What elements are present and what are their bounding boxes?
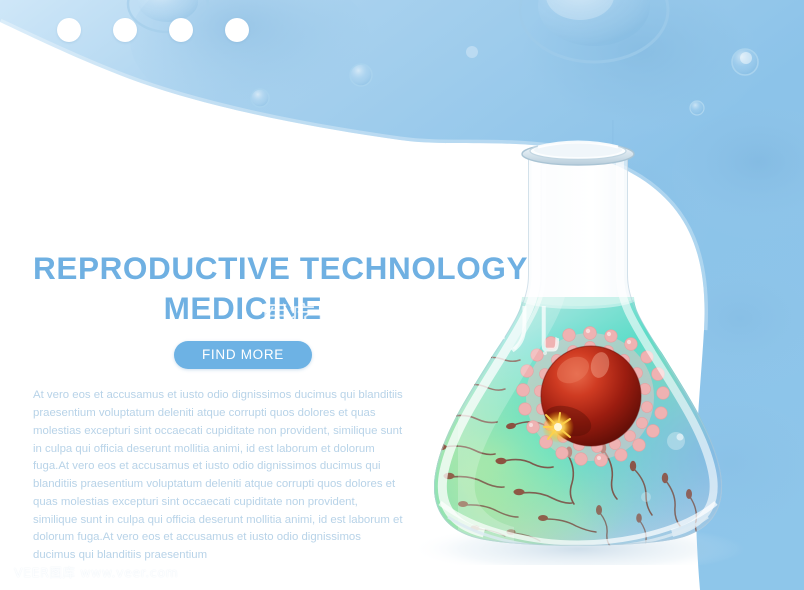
- erlenmeyer-flask-illustration: [418, 125, 778, 565]
- flask-rim: [522, 142, 634, 165]
- fertilization-spark: [542, 411, 574, 443]
- page-title-line2: MEDICINE: [33, 288, 453, 330]
- nav-dot-1[interactable]: [57, 18, 81, 42]
- find-more-button[interactable]: FIND MORE: [174, 341, 312, 369]
- nav-dot-2[interactable]: [113, 18, 137, 42]
- hero-copy-block: REPRODUCTIVE TECHNOLOGY MEDICINE FIND MO…: [33, 248, 453, 565]
- nav-dot-4[interactable]: [225, 18, 249, 42]
- page-title-line1: REPRODUCTIVE TECHNOLOGY: [33, 248, 453, 290]
- nav-dot-3[interactable]: [169, 18, 193, 42]
- body-paragraph: At vero eos et accusamus et iusto odio d…: [33, 387, 405, 565]
- banner-canvas: REPRODUCTIVE TECHNOLOGY MEDICINE FIND MO…: [0, 0, 804, 590]
- nav-dot-group: [57, 18, 249, 42]
- cta-wrapper: FIND MORE: [33, 341, 453, 369]
